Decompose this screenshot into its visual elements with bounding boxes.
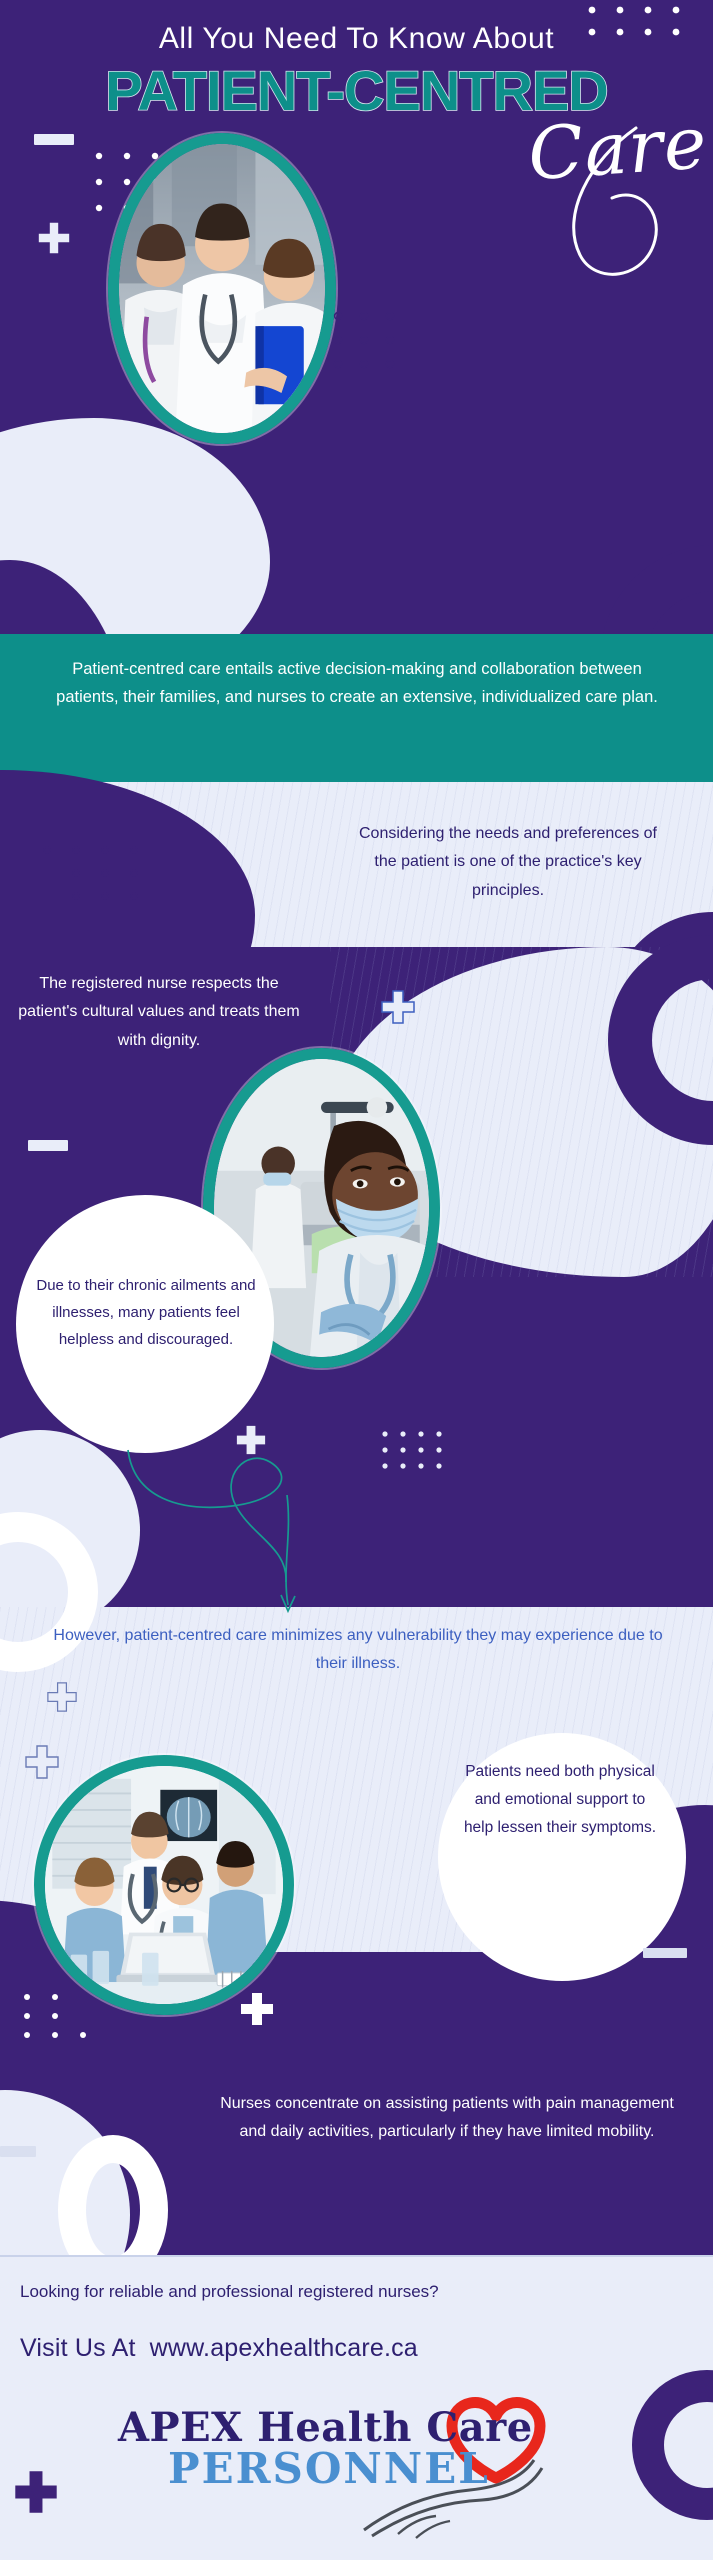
plus-icon-footer bbox=[14, 2470, 58, 2514]
dash-icon-right bbox=[643, 1948, 687, 1958]
dot-grid-icon-photo3 bbox=[22, 1992, 102, 2042]
plus-icon-needs bbox=[109, 800, 143, 834]
footer-visit-label: Visit Us At bbox=[20, 2334, 136, 2362]
footer-visit: Visit Us Atwww.apexhealthcare.ca bbox=[20, 2334, 418, 2363]
section-text-pain-management: Nurses concentrate on assisting patients… bbox=[208, 2090, 686, 2147]
dot-grid-icon-needs bbox=[42, 845, 142, 905]
footer-url[interactable]: www.apexhealthcare.ca bbox=[150, 2334, 418, 2362]
plus-icon-cultural bbox=[381, 990, 415, 1024]
squiggle-connector bbox=[120, 1420, 350, 1610]
arrow-icon-down bbox=[270, 1495, 310, 1625]
section-text-cultural-values: The registered nurse respects the patien… bbox=[14, 970, 304, 1055]
section-text-needs-preferences: Considering the needs and preferences of… bbox=[352, 820, 664, 905]
footer-question: Looking for reliable and professional re… bbox=[20, 2282, 693, 2302]
dash-icon-bottom-left bbox=[0, 2146, 36, 2157]
plus-icon-bottom bbox=[240, 1992, 274, 2026]
plus-icon-however bbox=[25, 1745, 59, 1779]
photo-team-with-laptop bbox=[34, 1755, 294, 2015]
section-text-chronic-ailments: Due to their chronic ailments and illnes… bbox=[26, 1272, 266, 1353]
plus-icon-purple-mid bbox=[236, 1425, 266, 1455]
infographic-page: All You Need To Know About PATIENT-CENTR… bbox=[0, 0, 713, 2560]
plus-icon-header bbox=[36, 220, 72, 256]
dash-icon-mid bbox=[28, 1140, 68, 1151]
section-text-physical-emotional: Patients need both physical and emotiona… bbox=[460, 1758, 660, 1843]
footer-divider bbox=[0, 2255, 713, 2257]
dot-grid-icon-purple-mid bbox=[381, 1430, 451, 1474]
dot-grid-icon-top-right bbox=[584, 2, 704, 42]
brand-logo: APEX Health Care PERSONNEL bbox=[58, 2400, 578, 2540]
photo-medical-students-group bbox=[108, 133, 336, 444]
dot-grid-icon-photo1 bbox=[332, 310, 422, 380]
plus-icon-photo3 bbox=[47, 1682, 77, 1712]
logo-line-2: PERSONNEL bbox=[168, 2444, 490, 2493]
section-text-definition: Patient-centred care entails active deci… bbox=[46, 655, 668, 712]
section-text-minimizes-vulnerability: However, patient-centred care minimizes … bbox=[50, 1622, 666, 1678]
dash-icon-header bbox=[34, 134, 74, 145]
